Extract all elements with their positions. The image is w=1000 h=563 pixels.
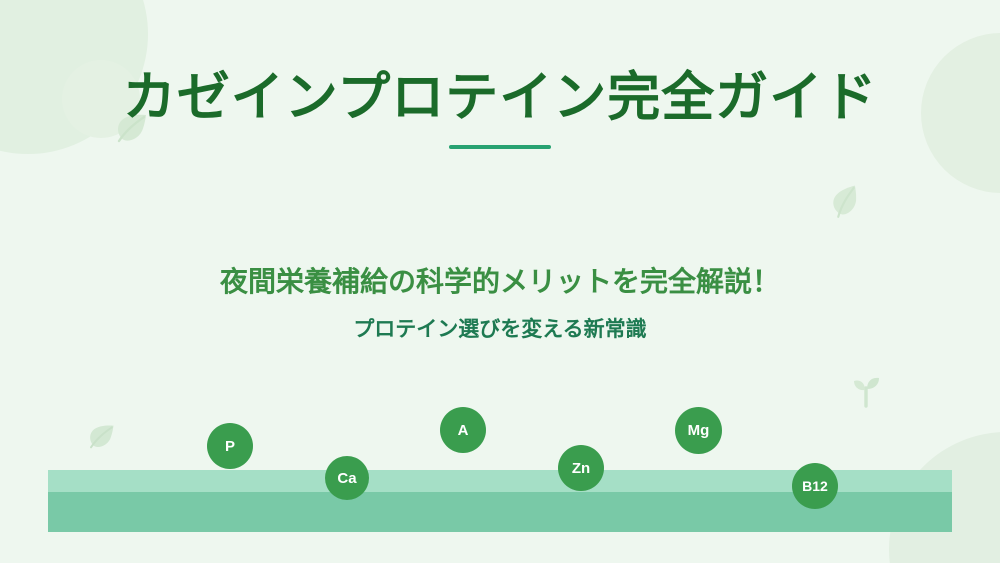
subtitle-text: 夜間栄養補給の科学的メリットを完全解説！ (0, 264, 1000, 300)
nutrient-badge-label: A (458, 422, 469, 439)
leaf-icon (824, 182, 867, 227)
nutrient-badge: P (207, 423, 253, 469)
title-block: カゼインプロテイン完全ガイド (0, 66, 1000, 149)
tagline-text: プロテイン選びを変える新常識 (0, 316, 1000, 344)
subtitle-block: 夜間栄養補給の科学的メリットを完全解説！ プロテイン選びを変える新常識 (0, 264, 1000, 344)
nutrient-badge-label: P (225, 438, 235, 455)
nutrient-badge-label: Zn (572, 460, 590, 477)
nutrient-badge: A (440, 407, 486, 453)
sprout-icon (846, 368, 886, 413)
nutrient-badge: Mg (675, 407, 722, 454)
nutrient-badge-label: Mg (688, 422, 710, 439)
nutrient-badge: B12 (792, 463, 838, 509)
slide-canvas: カゼインプロテイン完全ガイド 夜間栄養補給の科学的メリットを完全解説！ プロテイ… (0, 0, 1000, 563)
page-title: カゼインプロテイン完全ガイド (0, 66, 1000, 130)
nutrient-badge-label: B12 (802, 478, 828, 494)
leaf-icon (86, 423, 116, 455)
nutrient-badge: Zn (558, 445, 604, 491)
nutrient-badge: Ca (325, 456, 369, 500)
nutrient-badge-label: Ca (337, 470, 356, 487)
title-underline-accent (449, 145, 551, 149)
